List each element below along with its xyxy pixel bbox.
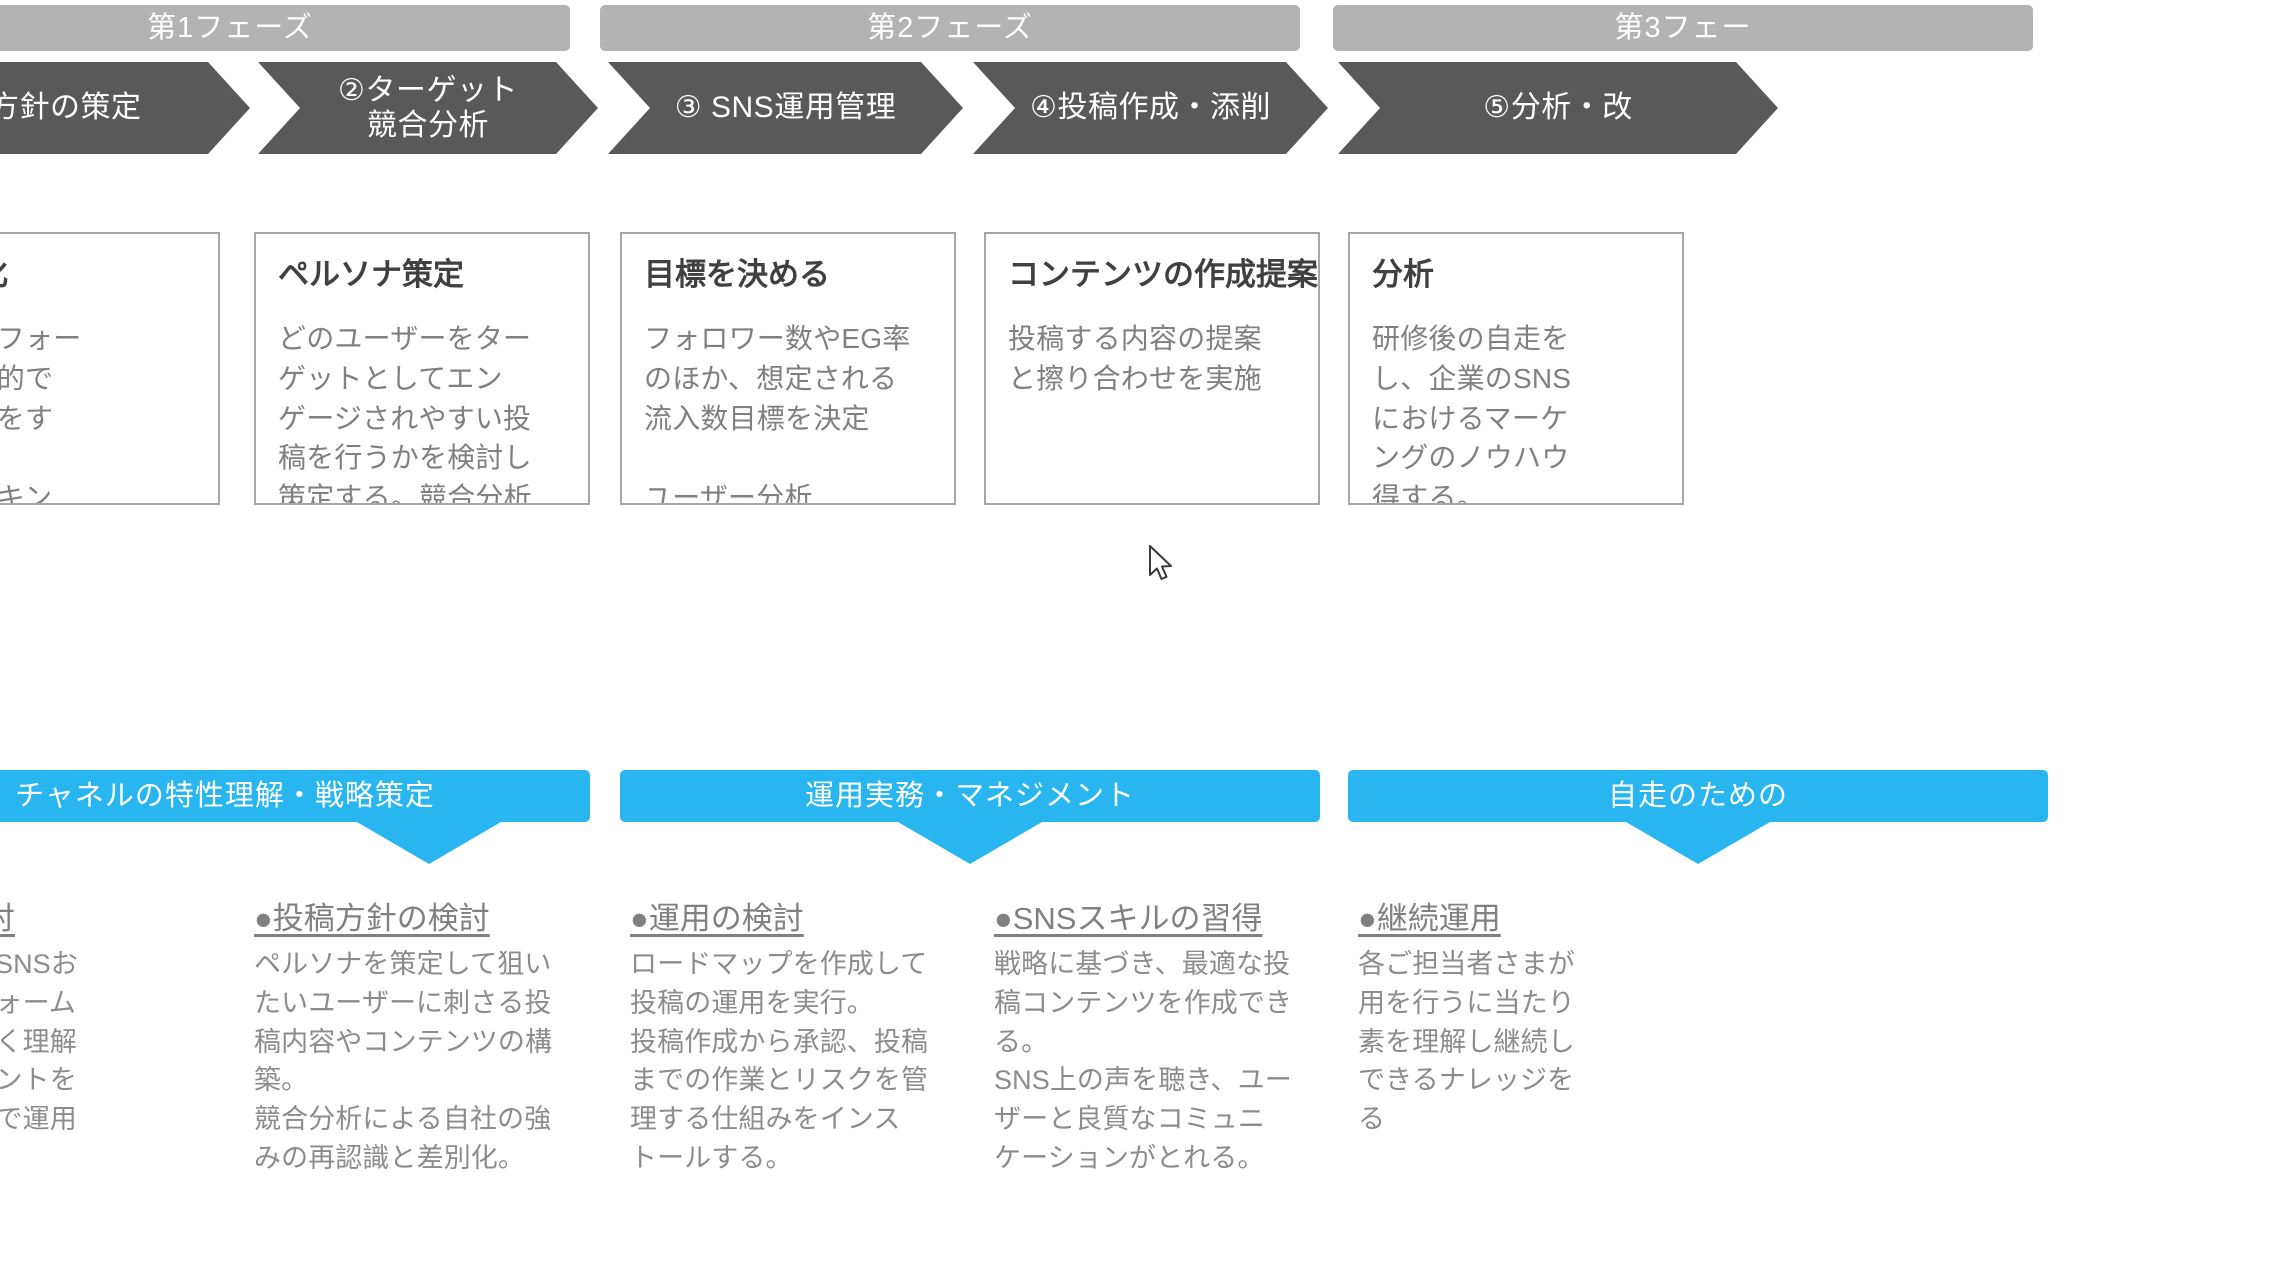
detail-card-1-body: プラットフォー どんな目的で ント運営をす プトメイキン GIの設計。: [0, 319, 196, 505]
outcome-banner-row: チャネルの特性理解・戦略策定 運用実務・マネジメント 自走のための: [0, 770, 2279, 880]
detail-card-3-title: 目標を決める: [644, 256, 932, 293]
banner-tail-icon-3: [1626, 822, 1770, 864]
detail-card-4-title: コンテンツの作成提案: [1008, 256, 1296, 293]
detail-card-1: の明確化 プラットフォー どんな目的で ント運営をす プトメイキン GIの設計。: [0, 232, 220, 505]
phase-bar-3-label: 第3フェー: [1614, 12, 1751, 44]
detail-card-2-title: ペルソナ策定: [278, 256, 566, 293]
outcome-column-5-body: 各ご担当者さまが 用を行うに当たり 素を理解し継続し できるナレッジを る: [1358, 945, 1694, 1139]
chevron-step-3[interactable]: ③ SNS運用管理: [608, 62, 963, 154]
outcome-column-2-body: ペルソナを策定して狙い たいユーザーに刺さる投 稿内容やコンテンツの構 築。 競…: [254, 945, 590, 1178]
phase-bar-2-label: 第2フェーズ: [867, 12, 1033, 44]
outcome-column-4-body: 戦略に基づき、最適な投 稿コンテンツを作成でき る。 SNS上の声を聴き、ユー …: [994, 945, 1330, 1178]
outcome-banner-3: 自走のための: [1348, 770, 2048, 822]
outcome-column-2: ●投稿方針の検討 ペルソナを策定して狙い たいユーザーに刺さる投 稿内容やコンテ…: [254, 900, 590, 1178]
outcome-banner-1: チャネルの特性理解・戦略策定: [0, 770, 590, 822]
chevron-step-1-label: 用方針の策定: [0, 90, 142, 125]
detail-card-5-title: 分析: [1372, 256, 1660, 293]
detail-card-5: 分析 研修後の自走を し、企業のSNS におけるマーケ ングのノウハウ 得する。: [1348, 232, 1684, 505]
outcome-column-1-body: 署各者が、SNSお プラットフォーム デメを正しく理解 自社アカウントを うな方…: [0, 945, 220, 1178]
outcome-banner-2: 運用実務・マネジメント: [620, 770, 1320, 822]
phase-bar-3: 第3フェー: [1333, 5, 2033, 51]
banner-tail-icon-1: [357, 822, 501, 864]
outcome-column-1-heading: 方針の検討: [0, 900, 220, 939]
outcome-column-1: 方針の検討 署各者が、SNSお プラットフォーム デメを正しく理解 自社アカウン…: [0, 900, 220, 1178]
banner-tail-icon-2: [898, 822, 1042, 864]
mouse-pointer-icon: [1148, 545, 1174, 585]
outcome-banner-1-label: チャネルの特性理解・戦略策定: [15, 780, 435, 812]
phase-bar-1-label: 第1フェーズ: [147, 12, 313, 44]
chevron-step-1[interactable]: 用方針の策定: [0, 62, 250, 154]
detail-card-5-body: 研修後の自走を し、企業のSNS におけるマーケ ングのノウハウ 得する。: [1372, 319, 1660, 505]
outcome-column-3: ●運用の検討 ロードマップを作成して 投稿の運用を実行。 投稿作成から承認、投稿…: [630, 900, 966, 1178]
chevron-step-2-label: ②ターゲット 競合分析: [338, 73, 518, 144]
chevron-step-4-label: ④投稿作成・添削: [1030, 90, 1271, 125]
chevron-step-2[interactable]: ②ターゲット 競合分析: [258, 62, 598, 154]
chevron-step-4[interactable]: ④投稿作成・添削: [973, 62, 1328, 154]
detail-card-2-body: どのユーザーをター ゲットとしてエン ゲージされやすい投 稿を行うかを検討し 策…: [278, 319, 566, 505]
outcome-column-5: ●継続運用 各ご担当者さまが 用を行うに当たり 素を理解し継続し できるナレッジ…: [1358, 900, 1694, 1139]
outcome-column-3-heading: ●運用の検討: [630, 900, 966, 939]
detail-card-3-body: フォロワー数やEG率 のほか、想定される 流入数目標を決定 ユーザー分析 KPI…: [644, 319, 932, 505]
detail-card-4-body: 投稿する内容の提案 と擦り合わせを実施: [1008, 319, 1296, 399]
chevron-step-3-label: ③ SNS運用管理: [675, 90, 896, 125]
detail-card-1-title: の明確化: [0, 256, 196, 293]
process-chevron-row: 用方針の策定 ②ターゲット 競合分析 ③ SNS運用管理 ④投稿作成・添削 ⑤分…: [0, 62, 2279, 154]
outcome-column-5-heading: ●継続運用: [1358, 900, 1694, 939]
slide-canvas: 第1フェーズ 第2フェーズ 第3フェー 用方針の策定 ②ターゲット 競合分析 ③…: [0, 0, 2279, 1282]
detail-card-3: 目標を決める フォロワー数やEG率 のほか、想定される 流入数目標を決定 ユーザ…: [620, 232, 956, 505]
detail-card-4: コンテンツの作成提案 投稿する内容の提案 と擦り合わせを実施: [984, 232, 1320, 505]
outcome-column-3-body: ロードマップを作成して 投稿の運用を実行。 投稿作成から承認、投稿 までの作業と…: [630, 945, 966, 1178]
phase-bar-1: 第1フェーズ: [0, 5, 570, 51]
outcome-column-2-heading: ●投稿方針の検討: [254, 900, 590, 939]
phase-bar-2: 第2フェーズ: [600, 5, 1300, 51]
detail-card-2: ペルソナ策定 どのユーザーをター ゲットとしてエン ゲージされやすい投 稿を行う…: [254, 232, 590, 505]
outcome-banner-3-label: 自走のための: [1608, 780, 1788, 812]
outcome-column-4-heading: ●SNSスキルの習得: [994, 900, 1330, 939]
chevron-step-5-label: ⑤分析・改: [1483, 90, 1632, 125]
outcome-banner-2-label: 運用実務・マネジメント: [805, 780, 1135, 812]
outcome-column-4: ●SNSスキルの習得 戦略に基づき、最適な投 稿コンテンツを作成でき る。 SN…: [994, 900, 1330, 1178]
chevron-step-5[interactable]: ⑤分析・改: [1338, 62, 1778, 154]
